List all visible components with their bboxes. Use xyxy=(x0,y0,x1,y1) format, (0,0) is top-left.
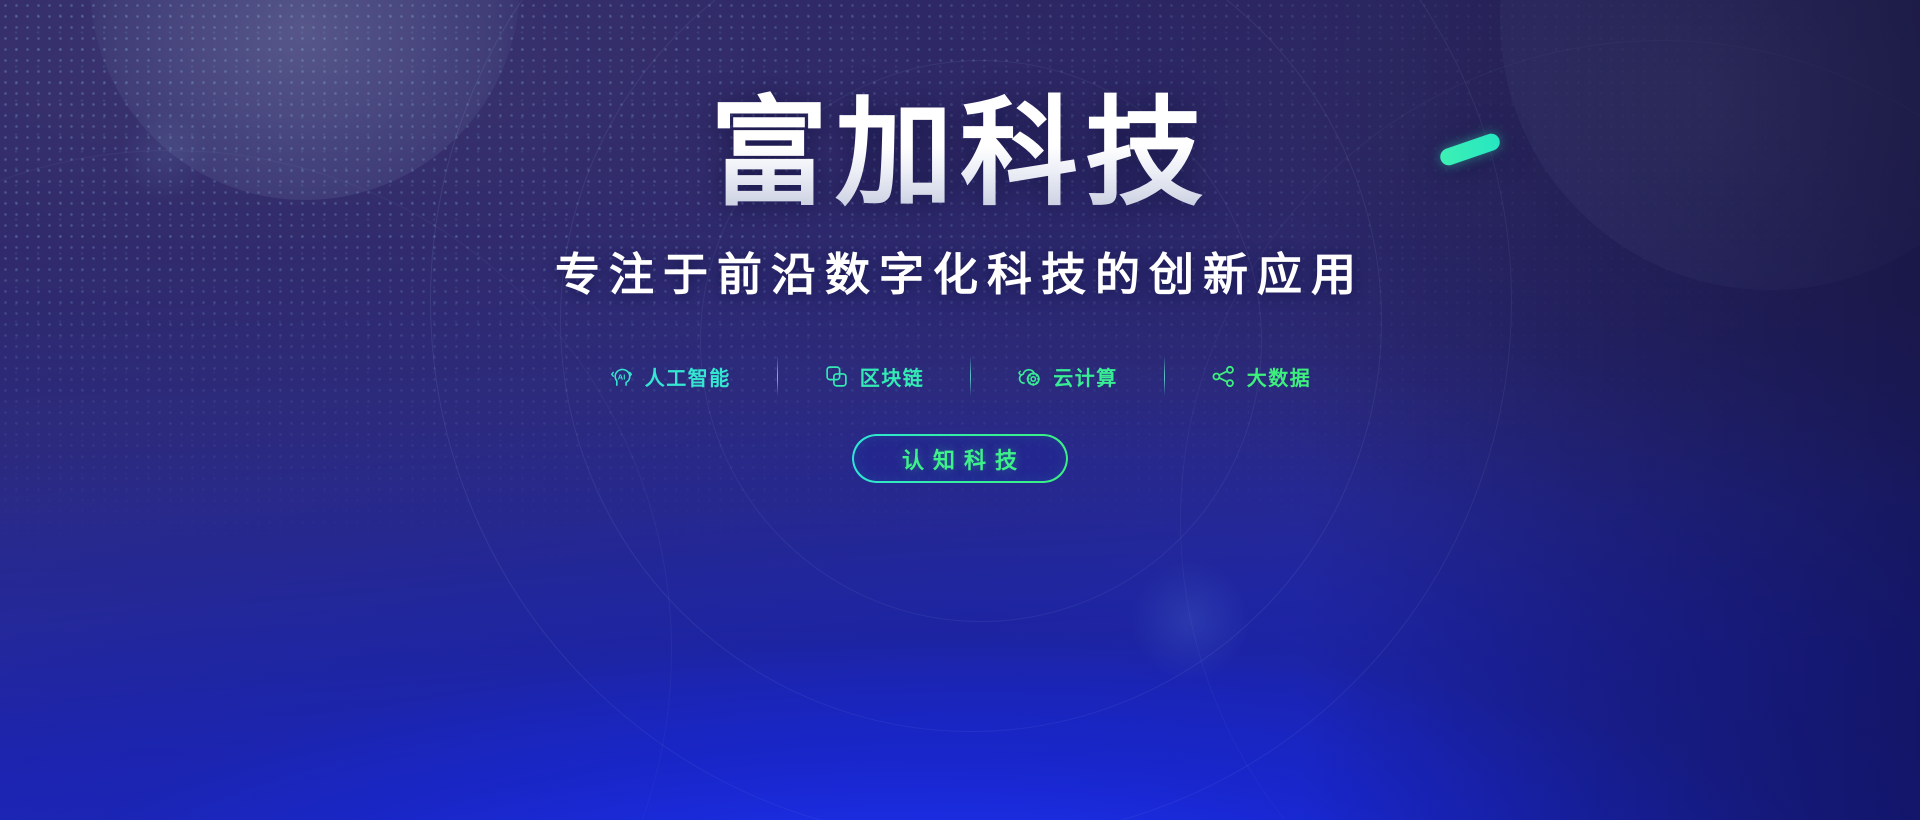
right-vignette xyxy=(1300,0,1920,820)
share-nodes-icon xyxy=(1211,364,1236,389)
feature-tag-label: 区块链 xyxy=(860,362,925,391)
glow-blob-top-right xyxy=(1500,0,1920,290)
page-title: 富加科技 xyxy=(710,88,1210,220)
accent-stroke-decoration xyxy=(1438,131,1502,167)
decorative-arc xyxy=(1180,40,1920,820)
glow-blob-left xyxy=(120,110,210,200)
hero-content: 富加科技 专注于前沿数字化科技的创新应用 AI 人工智能 区块链 xyxy=(0,0,1920,820)
glow-blob-center xyxy=(1130,560,1250,680)
feature-tag-label: 人工智能 xyxy=(645,362,731,391)
feature-tag-label: 大数据 xyxy=(1247,362,1312,391)
cta-button-label: 认知科技 xyxy=(902,443,1026,475)
cloud-gear-icon xyxy=(1017,364,1042,389)
feature-tag-list: AI 人工智能 区块链 xyxy=(563,356,1358,396)
feature-tag-ai[interactable]: AI 人工智能 xyxy=(563,362,777,391)
blockchain-icon xyxy=(824,364,849,389)
mesh-glow xyxy=(0,520,1920,820)
feature-tag-blockchain[interactable]: 区块链 xyxy=(778,362,971,391)
tagline: 专注于前沿数字化科技的创新应用 xyxy=(555,238,1365,303)
brand-title-text: 富加科技 xyxy=(710,88,1210,220)
hero-banner: 富加科技 专注于前沿数字化科技的创新应用 AI 人工智能 区块链 xyxy=(0,0,1920,820)
feature-tag-cloud[interactable]: 云计算 xyxy=(971,362,1164,391)
feature-tag-bigdata[interactable]: 大数据 xyxy=(1165,362,1358,391)
feature-tag-label: 云计算 xyxy=(1053,362,1118,391)
glow-blob-top-left xyxy=(90,0,520,200)
cta-button[interactable]: 认知科技 xyxy=(852,434,1068,483)
svg-text:AI: AI xyxy=(617,372,625,381)
ai-head-icon: AI xyxy=(609,364,634,389)
